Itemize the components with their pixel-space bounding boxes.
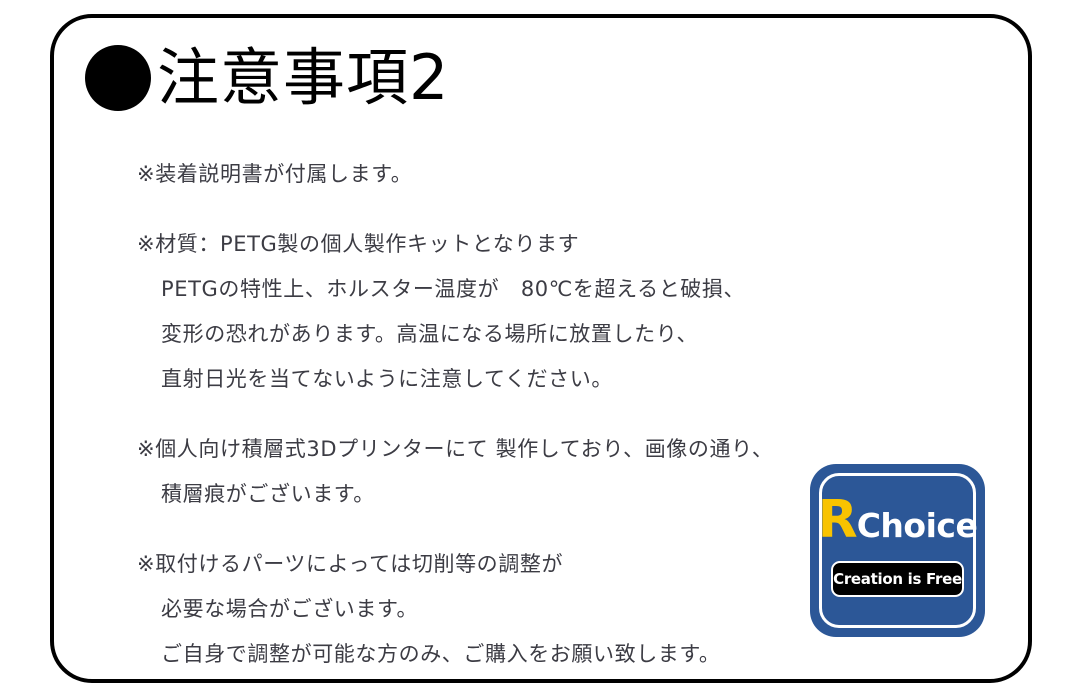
text-line: 変形の恐れがあります。高温になる場所に放置したり、 <box>137 312 937 357</box>
text-line: PETGの特性上、ホルスター温度が 80℃を超えると破損、 <box>137 267 937 312</box>
logo-brand-name: Choice <box>857 509 978 542</box>
text-line: ※材質：PETG製の個人製作キットとなります <box>137 222 937 267</box>
paragraph-attachment-manual: ※装着説明書が付属します。 <box>137 152 937 197</box>
rchoice-logo: R Choice Creation is Free <box>810 464 985 637</box>
text-line: ※装着説明書が付属します。 <box>137 152 937 197</box>
paragraph-material-petg: ※材質：PETG製の個人製作キットとなります PETGの特性上、ホルスター温度が… <box>137 222 937 402</box>
logo-tagline-bar: Creation is Free <box>831 561 964 597</box>
logo-r-mark: R <box>818 494 856 546</box>
text-line: ※個人向け積層式3Dプリンターにて 製作しており、画像の通り、 <box>137 427 937 472</box>
page-heading: 注意事項2 <box>85 45 449 111</box>
notice-card-page: 注意事項2 ※装着説明書が付属します。 ※材質：PETG製の個人製作キットとなり… <box>0 0 1080 695</box>
text-line: ご自身で調整が可能な方のみ、ご購入をお願い致します。 <box>137 632 937 677</box>
page-title: 注意事項2 <box>157 47 449 109</box>
logo-tagline: Creation is Free <box>833 570 962 588</box>
bullet-circle-icon <box>85 45 151 111</box>
logo-wordmark: R Choice <box>810 494 985 546</box>
text-line: 直射日光を当てないように注意してください。 <box>137 357 937 402</box>
